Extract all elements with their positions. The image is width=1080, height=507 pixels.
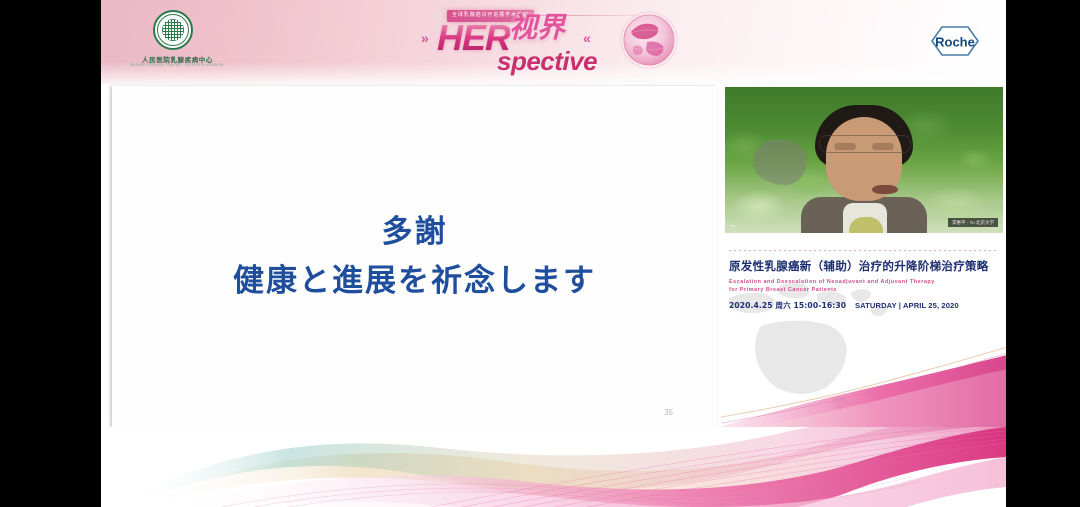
poster-wave-graphic [721,332,1006,427]
slide-content: 多謝 健康と進展を祈念します [112,86,717,427]
poster-date-en: SATURDAY | APRIL 25, 2020 [855,301,959,310]
poster-divider [729,250,997,251]
poster-date-spacer [848,301,852,310]
poster-title-en: Escalation and Deescalation of Neoadjuva… [729,278,1001,295]
speaker-mouth [872,185,898,194]
brand-cn: 视界 [509,14,565,42]
poster-date-cn: 2020.4.25 周六 15:00-16:30 [729,301,846,310]
poster-title-en-line1: Escalation and Deescalation of Neoadjuva… [729,278,1001,286]
poster-title-cn: 原发性乳腺癌新（辅助）治疗的升降阶梯治疗策略 [729,260,1001,274]
video-corner-label: live [730,223,736,228]
green-circular-emblem-icon [153,10,193,50]
svg-text:Roche: Roche [935,35,975,50]
institution-logo: 人民医院乳腺疾病中心 BREAST DISEASE CENTER · PEOPL… [115,8,240,76]
speaker-video-tile[interactable]: live 李惠平 - Yu 北京大学 [725,87,1003,233]
speaker-figure [805,105,923,233]
roche-hexagon-logo-icon: Roche [918,22,992,60]
pink-globe-icon [617,8,681,72]
chevron-left-icon: « [583,30,589,46]
slide-page-number: 35 [664,408,673,417]
bottom-wave-decoration [101,427,1006,507]
slide-heading-primary: 多謝 [382,213,448,252]
event-poster: 原发性乳腺癌新（辅助）治疗的升降阶梯治疗策略 Escalation and De… [721,236,1006,427]
participant-name-badge: 李惠平 - Yu 北京大学 [948,218,998,227]
broadcast-frame: 人民医院乳腺疾病中心 BREAST DISEASE CENTER · PEOPL… [101,0,1006,507]
event-header-banner: 人民医院乳腺疾病中心 BREAST DISEASE CENTER · PEOPL… [101,0,1006,84]
letterbox-bar-left [0,0,101,507]
slide-heading-secondary: 健康と進展を祈念します [233,262,596,301]
letterbox-bar-right [1006,0,1080,507]
poster-date: 2020.4.25 周六 15:00-16:30 SATURDAY | APRI… [729,300,1001,311]
glasses-icon [819,135,911,153]
screen: 人民医院乳腺疾病中心 BREAST DISEASE CENTER · PEOPL… [0,0,1080,507]
chevron-right-icon: » [421,30,427,46]
poster-text-block: 原发性乳腺癌新（辅助）治疗的升降阶梯治疗策略 Escalation and De… [729,260,1001,311]
speaker-sweater [849,217,883,233]
poster-title-en-line2: for Primary Breast Cancer Patients [729,286,1001,294]
speaker-face [826,117,902,201]
presentation-slide[interactable]: 多謝 健康と進展を祈念します 35 [112,86,717,427]
speaker-panel: live 李惠平 - Yu 北京大学 [721,86,1006,427]
institution-name-en: BREAST DISEASE CENTER · PEOPLE'S HOSPITA… [115,63,240,67]
brand-sub: spective [497,48,597,74]
